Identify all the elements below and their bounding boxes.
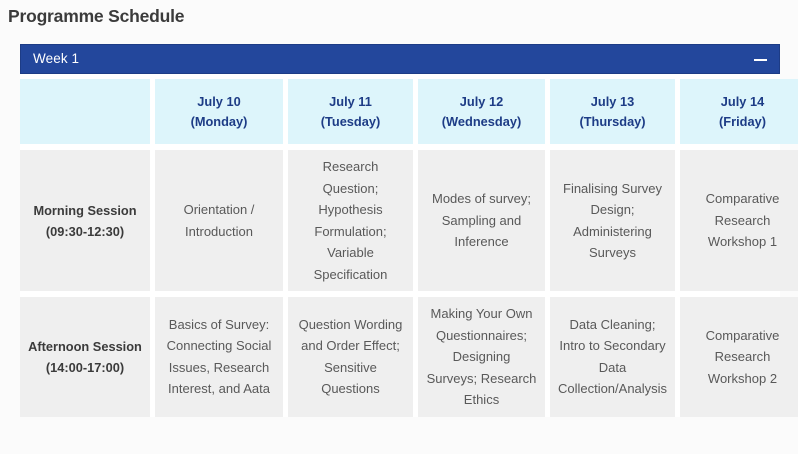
table-cell-morning-thursday: Finalising Survey Design; Administering … <box>550 150 675 291</box>
table-cell-afternoon-thursday: Data Cleaning; Intro to Secondary Data C… <box>550 297 675 417</box>
session-time: (09:30-12:30) <box>28 221 142 242</box>
minus-icon[interactable] <box>754 53 767 66</box>
day-weekday: (Friday) <box>688 112 797 132</box>
table-cell-morning-wednesday: Modes of survey; Sampling and Inference <box>418 150 545 291</box>
session-name: Morning Session <box>28 200 142 221</box>
day-header-wednesday: July 12 (Wednesday) <box>418 79 545 144</box>
day-header-tuesday: July 11 (Tuesday) <box>288 79 413 144</box>
day-header-friday: July 14 (Friday) <box>680 79 798 144</box>
day-date: July 14 <box>688 92 797 112</box>
week-label: Week 1 <box>33 44 79 74</box>
table-cell-afternoon-monday: Basics of Survey: Connecting Social Issu… <box>155 297 283 417</box>
day-date: July 11 <box>296 92 405 112</box>
table-cell-morning-monday: Orientation / Introduction <box>155 150 283 291</box>
table-cell-afternoon-wednesday: Making Your Own Questionnaires; Designin… <box>418 297 545 417</box>
day-header-monday: July 10 (Monday) <box>155 79 283 144</box>
week-header-bar[interactable]: Week 1 <box>20 44 780 74</box>
day-date: July 12 <box>426 92 537 112</box>
day-weekday: (Wednesday) <box>426 112 537 132</box>
day-header-thursday: July 13 (Thursday) <box>550 79 675 144</box>
day-date: July 10 <box>163 92 275 112</box>
session-label-morning: Morning Session (09:30-12:30) <box>20 150 150 291</box>
table-cell-morning-tuesday: Research Question; Hypothesis Formulatio… <box>288 150 413 291</box>
table-cell-morning-friday: Comparative Research Workshop 1 <box>680 150 798 291</box>
page-title: Programme Schedule <box>8 2 184 30</box>
session-label-afternoon: Afternoon Session (14:00-17:00) <box>20 297 150 417</box>
table-cell-afternoon-friday: Comparative Research Workshop 2 <box>680 297 798 417</box>
table-cell-afternoon-tuesday: Question Wording and Order Effect; Sensi… <box>288 297 413 417</box>
programme-schedule-page: Programme Schedule Week 1 July 10 (Monda… <box>0 0 798 454</box>
schedule-grid: July 10 (Monday) July 11 (Tuesday) July … <box>20 74 780 417</box>
session-time: (14:00-17:00) <box>28 357 142 378</box>
day-weekday: (Tuesday) <box>296 112 405 132</box>
session-name: Afternoon Session <box>28 336 142 357</box>
table-corner-cell <box>20 79 150 144</box>
day-date: July 13 <box>558 92 667 112</box>
schedule-table-card: Week 1 July 10 (Monday) July 11 (Tuesday… <box>20 44 780 417</box>
day-weekday: (Monday) <box>163 112 275 132</box>
day-weekday: (Thursday) <box>558 112 667 132</box>
